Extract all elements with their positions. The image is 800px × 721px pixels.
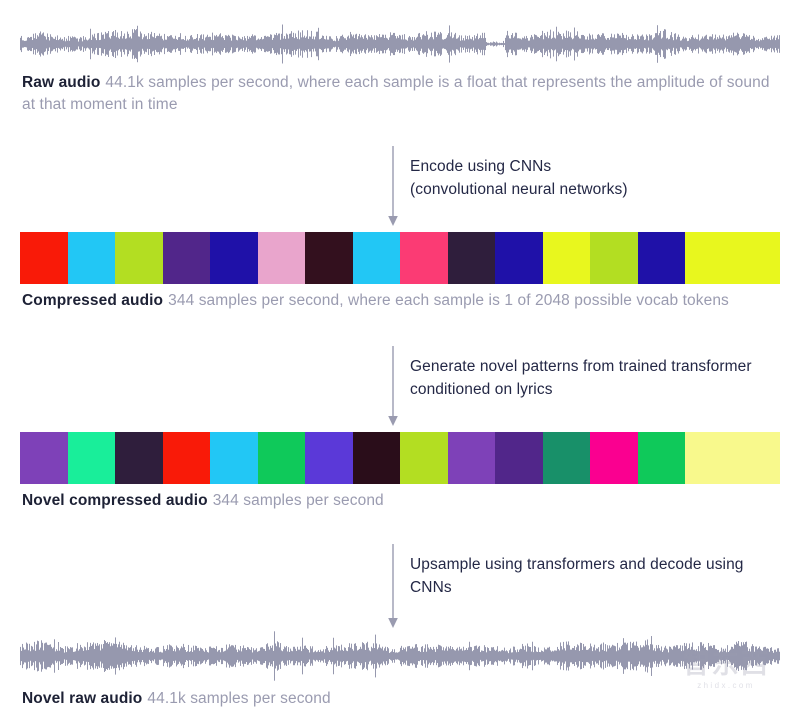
label-compressed-audio: Compressed audio <box>22 292 163 309</box>
step-generate-line1: Generate novel patterns from trained tra… <box>410 355 800 378</box>
token-block <box>638 432 686 484</box>
token-block <box>210 432 258 484</box>
token-block <box>543 432 591 484</box>
waveform-icon-novel-raw-audio <box>20 630 780 682</box>
label-raw-audio: Raw audio <box>22 74 100 91</box>
token-block <box>163 432 211 484</box>
token-bar-compressed-audio <box>20 232 780 284</box>
token-block <box>543 232 591 284</box>
token-block <box>733 432 781 484</box>
token-block <box>305 432 353 484</box>
token-block <box>448 232 496 284</box>
token-block <box>590 232 638 284</box>
token-block <box>495 232 543 284</box>
token-block <box>20 232 68 284</box>
token-bar-novel-compressed-audio <box>20 432 780 484</box>
description-novel-raw-audio: 44.1k samples per second <box>147 690 330 707</box>
token-block <box>400 432 448 484</box>
down-arrow-icon-generate <box>386 346 400 428</box>
token-block <box>590 432 638 484</box>
description-compressed-audio: 344 samples per second, where each sampl… <box>168 292 729 309</box>
caption-novel-raw-audio: Novel raw audio44.1k samples per second <box>22 688 782 710</box>
description-novel-compressed-audio: 344 samples per second <box>213 492 384 509</box>
step-upsample-line2: CNNs <box>410 576 800 599</box>
waveform-svg-novel <box>20 630 780 682</box>
token-block <box>163 232 211 284</box>
label-novel-raw-audio: Novel raw audio <box>22 690 142 707</box>
token-block <box>638 232 686 284</box>
token-block <box>68 232 116 284</box>
step-encode-line2: (convolutional neural networks) <box>410 178 800 201</box>
token-block <box>115 432 163 484</box>
down-arrow-icon-encode <box>386 146 400 228</box>
caption-compressed-audio: Compressed audio344 samples per second, … <box>22 290 782 312</box>
token-block <box>210 232 258 284</box>
step-upsample-line1: Upsample using transformers and decode u… <box>410 553 800 576</box>
waveform-svg-raw <box>20 18 780 70</box>
token-block <box>305 232 353 284</box>
token-block <box>353 232 401 284</box>
token-block <box>685 232 733 284</box>
label-novel-compressed-audio: Novel compressed audio <box>22 492 208 509</box>
step-encode-text: Encode using CNNs (convolutional neural … <box>410 155 800 201</box>
token-block <box>495 432 543 484</box>
caption-raw-audio: Raw audio44.1k samples per second, where… <box>22 72 777 116</box>
down-arrow-icon-upsample <box>386 544 400 630</box>
token-block <box>258 232 306 284</box>
token-block <box>400 232 448 284</box>
step-generate-line2: conditioned on lyrics <box>410 378 800 401</box>
step-upsample-text: Upsample using transformers and decode u… <box>410 553 800 599</box>
step-encode-line1: Encode using CNNs <box>410 155 800 178</box>
caption-novel-compressed-audio: Novel compressed audio344 samples per se… <box>22 490 782 512</box>
token-block <box>353 432 401 484</box>
token-block <box>258 432 306 484</box>
token-block <box>115 232 163 284</box>
token-block <box>733 232 781 284</box>
description-raw-audio: 44.1k samples per second, where each sam… <box>22 74 770 113</box>
token-block <box>68 432 116 484</box>
token-block <box>20 432 68 484</box>
token-block <box>448 432 496 484</box>
token-block <box>685 432 733 484</box>
diagram-canvas: Raw audio44.1k samples per second, where… <box>0 0 800 721</box>
step-generate-text: Generate novel patterns from trained tra… <box>410 355 800 401</box>
waveform-icon-raw-audio <box>20 18 780 70</box>
